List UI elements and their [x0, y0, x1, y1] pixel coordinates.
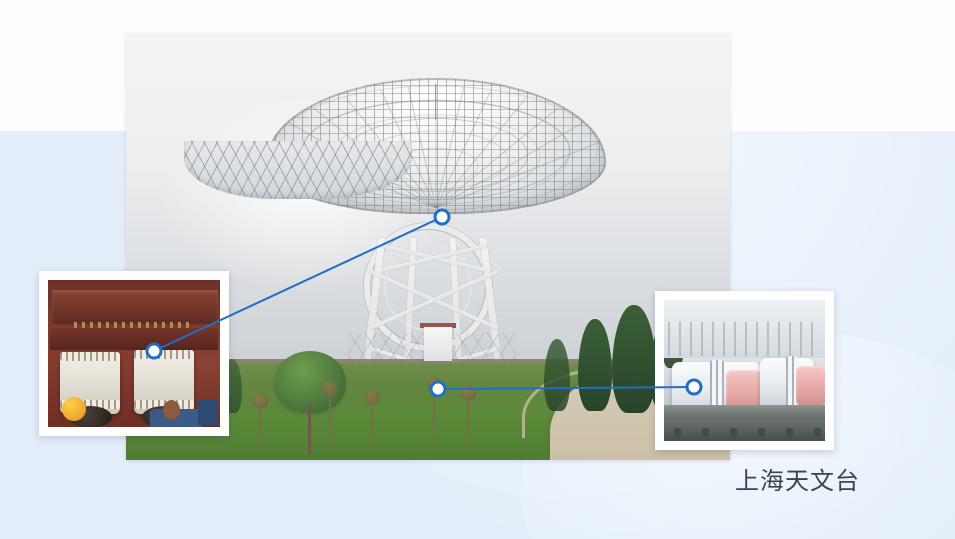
sapling-trunk-2 [259, 405, 261, 445]
sapling-trunk-5 [433, 389, 435, 439]
rusty-beam-lower [50, 328, 218, 350]
machine-base-plinth [664, 419, 825, 441]
worker-second-figure [198, 399, 218, 425]
base-bolt-3 [730, 428, 737, 437]
inset-left-image [48, 280, 220, 427]
new-drive-units-inset [39, 271, 229, 436]
base-bolt-6 [814, 428, 821, 437]
old-drive-flange-right [134, 350, 194, 359]
dish-apex-mast [435, 84, 436, 120]
sapling-trunk-4 [371, 401, 373, 443]
sapling-trunk-6 [467, 397, 469, 443]
orange-hard-hat [62, 397, 86, 421]
base-bolt-4 [758, 428, 765, 437]
base-bolt-2 [702, 428, 709, 437]
foreground-tree-trunk [308, 405, 311, 455]
inset-right-image [664, 300, 825, 441]
machine-housing-fins [668, 322, 821, 356]
base-bolt-1 [674, 428, 681, 437]
base-bolt-5 [786, 428, 793, 437]
small-building [424, 327, 452, 361]
slide-canvas: 上海天文台 [0, 0, 955, 539]
sapling-trunk-3 [329, 393, 331, 441]
new-drive-endcap-right [796, 366, 825, 406]
photo-caption: 上海天文台 [735, 468, 860, 497]
rusty-beam-upper [52, 290, 218, 324]
worker-head [163, 400, 180, 419]
old-drive-units-inset [655, 291, 834, 450]
old-drive-flange-left [60, 352, 120, 361]
